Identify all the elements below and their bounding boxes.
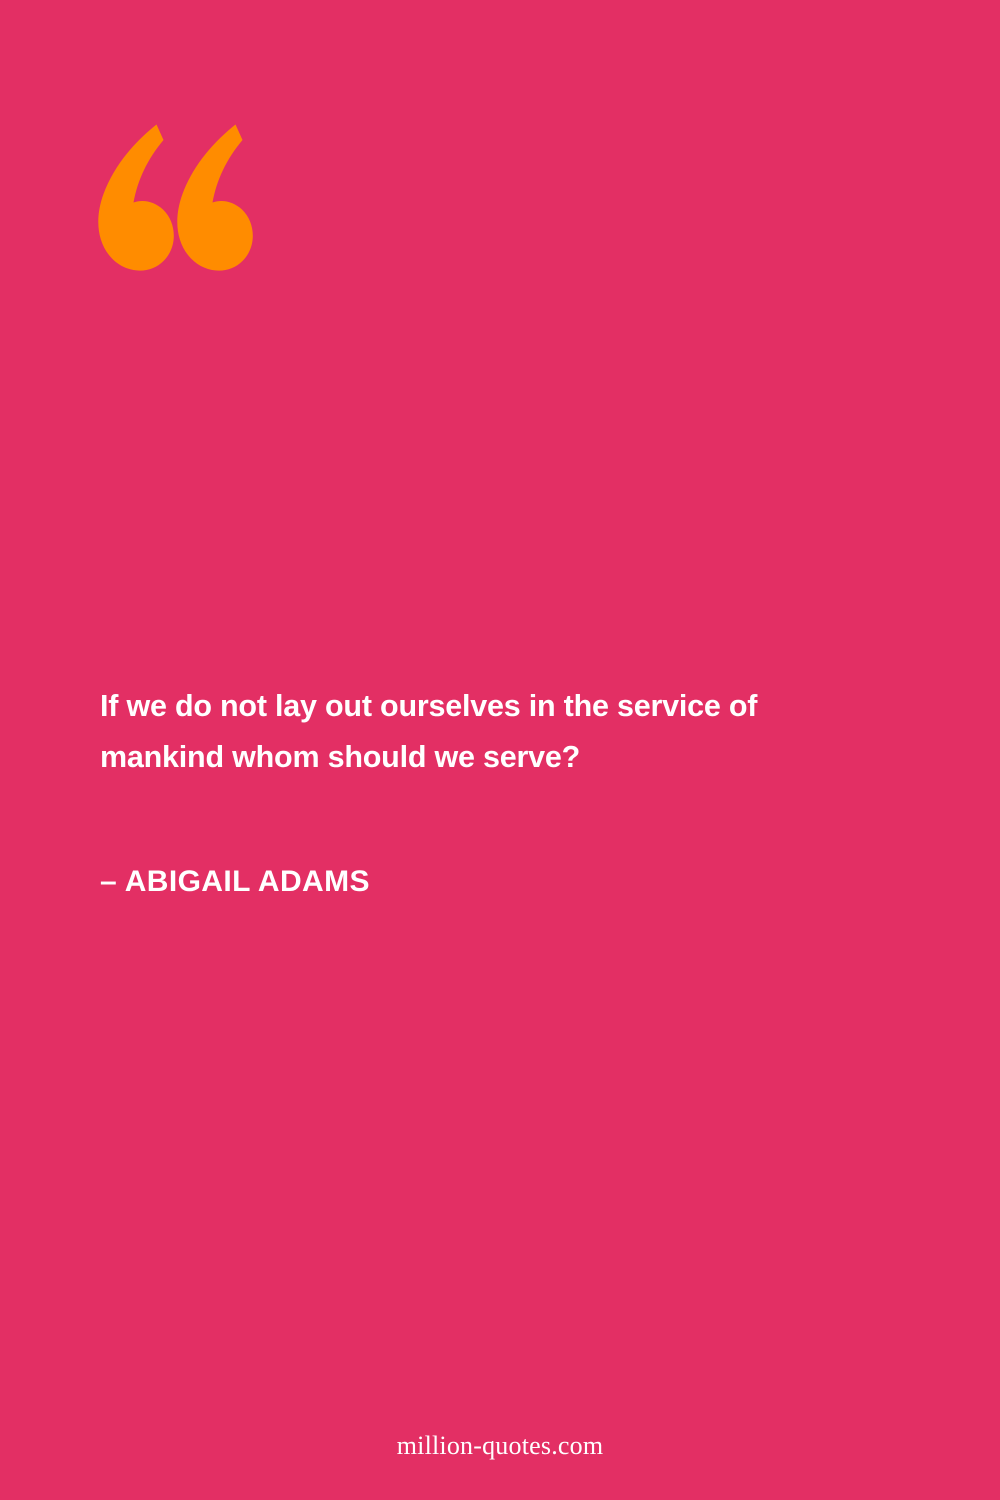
site-footer-credit: million-quotes.com <box>0 1430 1000 1462</box>
quote-text: If we do not lay out ourselves in the se… <box>100 681 800 783</box>
opening-double-quote-icon <box>93 122 258 277</box>
quote-author: – ABIGAIL ADAMS <box>100 862 370 902</box>
quote-card: If we do not lay out ourselves in the se… <box>0 0 1000 1500</box>
